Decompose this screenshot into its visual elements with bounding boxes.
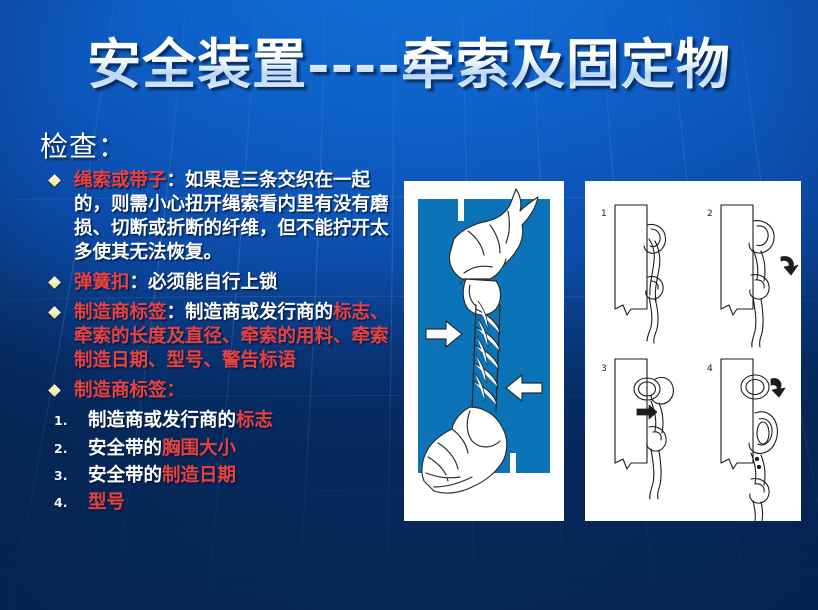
numbered-segment: 制造商或发行商的 xyxy=(88,410,236,431)
list-number: 1. xyxy=(54,413,67,430)
slide-title-area: 安全装置----牵索及固定物 xyxy=(0,36,818,92)
bullet-text-springhook: 弹簧扣：必须能自行上锁 xyxy=(74,271,400,295)
diamond-bullet-icon xyxy=(48,174,61,187)
bullet-segment: ：必须能自行上锁 xyxy=(130,272,278,293)
numbered-segment: 安全带的 xyxy=(88,438,162,459)
bullet-item-manufacturer-label: 制造商标签：制造商或发行商的标志、牵索的长度及直径、牵索的用料、牵索制造日期、型… xyxy=(40,301,400,373)
four-step-knot-diagram: 1 2 3 4 xyxy=(585,181,801,521)
presentation-slide: 安全装置----牵索及固定物 检查： 绳索或带子：如果是三条交织在一起的，则需小… xyxy=(0,0,818,610)
bullet-text-rope: 绳索或带子：如果是三条交织在一起的，则需小心扭开绳索看内里有没有磨损、切断或折断… xyxy=(74,169,400,265)
numbered-segment: 型号 xyxy=(88,492,125,513)
numbered-list: 1. 制造商或发行商的标志 2. 安全带的胸围大小 3. 安全带的制造日期 4.… xyxy=(40,409,400,516)
numbered-segment: 制造日期 xyxy=(162,465,236,486)
numbered-item-2: 2. 安全带的胸围大小 xyxy=(40,437,400,461)
bullet-segment: 绳索或带子 xyxy=(74,170,167,191)
bullet-list: 绳索或带子：如果是三条交织在一起的，则需小心扭开绳索看内里有没有磨损、切断或折断… xyxy=(40,169,400,403)
diamond-bullet-icon xyxy=(48,306,61,319)
numbered-item-4: 4. 型号 xyxy=(40,491,400,515)
bullet-item-springhook: 弹簧扣：必须能自行上锁 xyxy=(40,271,400,295)
list-number: 2. xyxy=(54,441,67,458)
panel-label-4: 4 xyxy=(707,364,713,374)
panel-label-3: 3 xyxy=(601,364,607,374)
rope-illustration-svg xyxy=(404,181,564,521)
bullet-segment: ：制造商或发行商的 xyxy=(167,302,334,323)
rope-inspection-illustration xyxy=(404,181,564,521)
numbered-item-1: 1. 制造商或发行商的标志 xyxy=(40,409,400,433)
bullet-segment: 制造商标签： xyxy=(74,380,185,401)
bullet-segment: 弹簧扣 xyxy=(74,272,130,293)
slide-title: 安全装置----牵索及固定物 xyxy=(87,36,731,92)
steps-illustration-svg: 1 2 3 4 xyxy=(585,181,801,521)
bullet-text-manufacturer-label: 制造商标签：制造商或发行商的标志、牵索的长度及直径、牵索的用料、牵索制造日期、型… xyxy=(74,301,400,373)
diamond-bullet-icon xyxy=(48,384,61,397)
bullet-item-manufacturer-label-2: 制造商标签： xyxy=(40,379,400,403)
list-number: 3. xyxy=(54,468,67,485)
numbered-item-3: 3. 安全带的制造日期 xyxy=(40,464,400,488)
panel-label-1: 1 xyxy=(601,209,607,219)
slide-body: 检查： 绳索或带子：如果是三条交织在一起的，则需小心扭开绳索看内里有没有磨损、切… xyxy=(40,132,400,519)
numbered-segment: 胸围大小 xyxy=(162,438,236,459)
bullet-text-manufacturer-label-2: 制造商标签： xyxy=(74,379,400,403)
diamond-bullet-icon xyxy=(48,276,61,289)
numbered-segment: 标志 xyxy=(236,410,273,431)
bullet-item-rope: 绳索或带子：如果是三条交织在一起的，则需小心扭开绳索看内里有没有磨损、切断或折断… xyxy=(40,169,400,265)
panel-label-2: 2 xyxy=(707,209,713,219)
bullet-segment: 制造商标签 xyxy=(74,302,167,323)
numbered-segment: 安全带的 xyxy=(88,465,162,486)
section-heading: 检查： xyxy=(40,132,400,163)
list-number: 4. xyxy=(54,495,67,512)
